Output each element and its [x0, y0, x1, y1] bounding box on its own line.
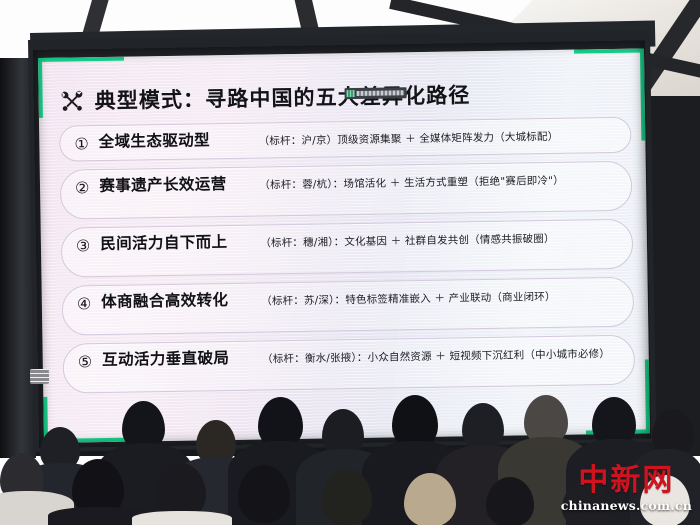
equipment-label-sticker	[30, 369, 49, 384]
audience-body	[132, 511, 232, 525]
audience-head	[322, 469, 372, 525]
audience	[0, 395, 700, 525]
screen-inner-shadow	[33, 40, 651, 448]
audience-head	[462, 403, 504, 451]
screenshot-stage: 典型模式：寻路中国的五大差异化路径 ① 全域生态驱动型 （标杆：沪/京）顶级资源…	[0, 0, 700, 525]
audience-head	[238, 465, 290, 523]
